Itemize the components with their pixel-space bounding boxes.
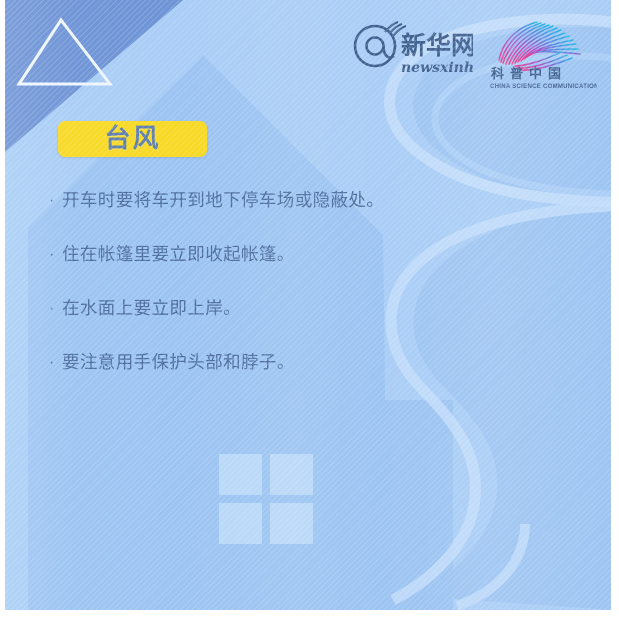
xinhua-logo: 新华网 newsxinhua bbox=[351, 16, 473, 78]
list-item-label: 在水面上要立即上岸。 bbox=[62, 296, 241, 322]
list-item-label: 住在帐篷里要立即收起帐篷。 bbox=[62, 242, 295, 268]
triangle-outline-decoration bbox=[13, 14, 118, 94]
at-sign-signal-icon bbox=[355, 22, 406, 66]
list-item-label: 要注意用手保护头部和脖子。 bbox=[62, 350, 295, 376]
bullet-dot-icon: · bbox=[49, 242, 62, 268]
logo-group: 新华网 newsxinhua bbox=[351, 16, 597, 92]
xinhua-chinese-label: 新华网 bbox=[401, 31, 473, 60]
list-item: · 在水面上要立即上岸。 bbox=[49, 296, 569, 350]
list-item: · 要注意用手保护头部和脖子。 bbox=[49, 350, 569, 404]
fan-wing-gradient-icon bbox=[499, 22, 580, 70]
xinhua-latin-label: newsxinhua bbox=[401, 60, 473, 76]
bullet-dot-icon: · bbox=[49, 350, 62, 376]
kepu-latin-label: CHINA SCIENCE COMMUNICATION bbox=[490, 84, 597, 90]
tips-list: · 开车时要将车开到地下停车场或隐蔽处。 · 住在帐篷里要立即收起帐篷。 · 在… bbox=[49, 188, 569, 404]
kepu-china-logo: 科普中国 CHINA SCIENCE COMMUNICATION bbox=[485, 16, 597, 92]
page-title: 台风 bbox=[104, 126, 160, 152]
list-item: · 住在帐篷里要立即收起帐篷。 bbox=[49, 242, 569, 296]
bullet-dot-icon: · bbox=[49, 188, 62, 214]
list-item: · 开车时要将车开到地下停车场或隐蔽处。 bbox=[49, 188, 569, 242]
poster-canvas: 新华网 newsxinhua bbox=[5, 0, 611, 610]
poster-root: 新华网 newsxinhua bbox=[0, 0, 619, 618]
list-item-label: 开车时要将车开到地下停车场或隐蔽处。 bbox=[62, 188, 384, 214]
kepu-chinese-label: 科普中国 bbox=[491, 66, 567, 82]
typhoon-title-badge: 台风 bbox=[58, 121, 207, 157]
bullet-dot-icon: · bbox=[49, 296, 62, 322]
